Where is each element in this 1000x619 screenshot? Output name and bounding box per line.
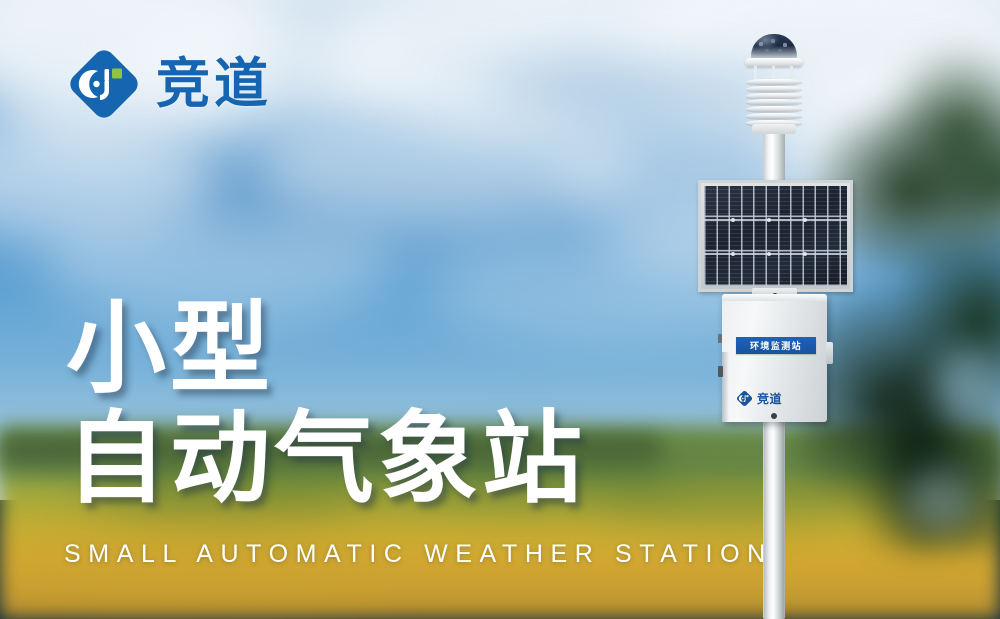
sensor-dome-legs [748, 66, 800, 80]
mounting-pole-lower [764, 420, 784, 619]
product-hero-banner: 竞道 小型 自动气象站 SMALL AUTOMATIC WEATHER STAT… [0, 0, 1000, 619]
weather-station-product: 环境监测站 竞道 [690, 30, 890, 619]
headline-subtitle: SMALL AUTOMATIC WEATHER STATION [64, 540, 773, 569]
headline-line-1: 小型 [66, 296, 586, 402]
headline-line-2: 自动气象站 [66, 406, 586, 512]
enclosure-brand-name: 竞道 [757, 390, 782, 407]
enclosure-screw [771, 413, 777, 419]
jingdao-diamond-logo-icon [66, 46, 142, 122]
jingdao-diamond-logo-icon [736, 390, 753, 407]
radiation-shield-base [752, 124, 796, 134]
page-title: 小型 自动气象站 [66, 296, 586, 512]
tree-light-gap [905, 470, 975, 530]
brand-name: 竞道 [156, 57, 272, 111]
enclosure-hinge [718, 334, 722, 343]
brand-logo[interactable]: 竞道 [66, 46, 272, 122]
enclosure-banner-label: 环境监测站 [750, 339, 802, 352]
enclosure-top-edge [722, 294, 827, 301]
solar-cells [704, 186, 847, 286]
enclosure-banner: 环境监测站 [736, 337, 816, 354]
control-enclosure-icon: 环境监测站 竞道 [722, 294, 827, 422]
tree-light-gap [935, 350, 995, 420]
enclosure-brand-logo: 竞道 [736, 390, 782, 407]
louvered-radiation-shield-icon [746, 79, 802, 127]
enclosure-latch [718, 366, 723, 377]
enclosure-side-tab [826, 342, 833, 364]
solar-panel-icon [698, 180, 853, 292]
enclosure-bevel [722, 352, 729, 422]
